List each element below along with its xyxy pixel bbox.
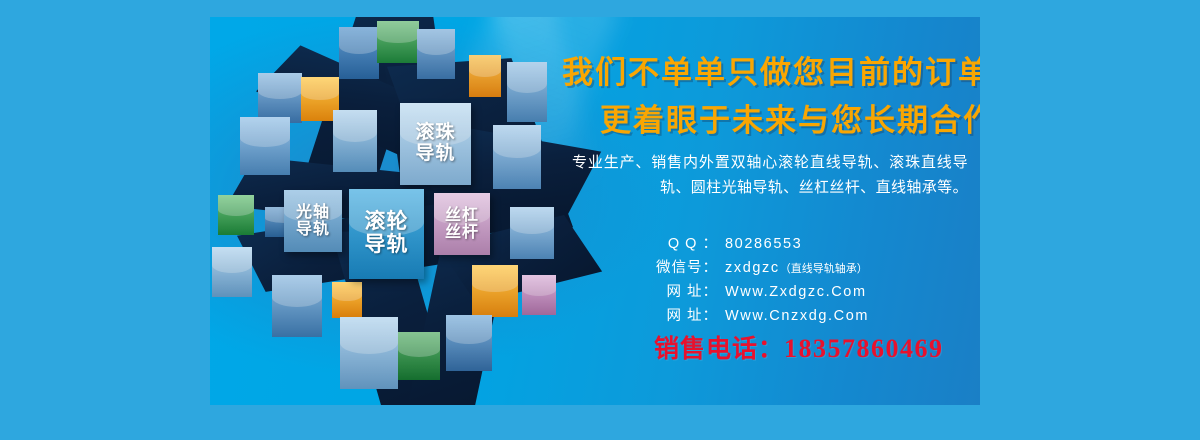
cube-blue bbox=[340, 317, 398, 389]
contact-label-website-2: 网 址： bbox=[550, 304, 718, 325]
contact-label-website-1: 网 址： bbox=[550, 280, 718, 301]
contact-row-qq: Q Q ： 80286553 bbox=[550, 232, 970, 254]
cube-blue bbox=[510, 207, 554, 259]
contact-note-wechat: （直线导轨轴承） bbox=[780, 260, 868, 276]
product-label-box-guangzhou-daogui: 光轴 导轨 bbox=[284, 190, 342, 252]
sales-phone-number: 18357860469 bbox=[784, 334, 944, 363]
headline-line-2: 更着眼于未来与您长期合作 bbox=[550, 95, 980, 140]
cube-cluster-graphic: 滚珠 导轨 光轴 导轨 滚轮 导轨 bbox=[210, 17, 555, 405]
product-label-line1: 滚珠 bbox=[415, 122, 455, 143]
headline-line-1: 我们不单单只做您目前的订单 bbox=[550, 47, 980, 92]
product-label-line2: 丝杆 bbox=[445, 224, 479, 241]
cube-blue bbox=[339, 27, 379, 79]
contact-value-website-1[interactable]: Www.Zxdgzc.Com bbox=[725, 284, 867, 300]
product-label-line2: 导轨 bbox=[365, 233, 409, 256]
cube-green bbox=[218, 195, 254, 235]
banner-copy-column: 我们不单单只做您目前的订单 更着眼于未来与您长期合作 专业生产、销售内外置双轴心… bbox=[550, 17, 980, 405]
product-label-box-gunzhu-daogui: 滚珠 导轨 bbox=[400, 103, 471, 185]
contact-block: Q Q ： 80286553 微信号： zxdgzc （直线导轨轴承） 网 址：… bbox=[550, 232, 970, 328]
cube-green bbox=[377, 21, 419, 63]
cube-blue bbox=[333, 110, 377, 172]
cube-blue bbox=[417, 29, 455, 79]
contact-label-wechat: 微信号： bbox=[550, 256, 718, 277]
cube-blue bbox=[240, 117, 290, 175]
cube-blue bbox=[507, 62, 547, 122]
cube-blue bbox=[212, 247, 252, 297]
product-label-line2: 导轨 bbox=[415, 143, 455, 164]
product-label-line1: 滚轮 bbox=[365, 210, 409, 233]
page-root: 滚珠 导轨 光轴 导轨 滚轮 导轨 bbox=[0, 0, 1200, 440]
sales-phone: 销售电话：18357860469 bbox=[654, 329, 944, 365]
cube-green bbox=[398, 332, 440, 380]
cube-orange bbox=[469, 55, 501, 97]
cube-blue bbox=[258, 73, 302, 123]
cube-blue bbox=[493, 125, 541, 189]
contact-label-qq: Q Q ： bbox=[550, 232, 718, 253]
contact-value-website-2[interactable]: Www.Cnzxdg.Com bbox=[725, 308, 869, 324]
promo-banner: 滚珠 导轨 光轴 导轨 滚轮 导轨 bbox=[210, 17, 980, 405]
banner-subcopy: 专业生产、销售内外置双轴心滚轮直线导轨、滚珠直线导轨、圆柱光轴导轨、丝杠丝杆、直… bbox=[572, 150, 968, 200]
cube-blue bbox=[272, 275, 322, 337]
product-label-line1: 丝杠 bbox=[445, 207, 479, 224]
contact-row-website-1: 网 址： Www.Zxdgzc.Com bbox=[550, 280, 970, 302]
product-label-box-gunlun-daogui: 滚轮 导轨 bbox=[349, 189, 424, 279]
contact-value-wechat: zxdgzc bbox=[725, 260, 780, 276]
contact-value-qq: 80286553 bbox=[725, 236, 802, 252]
contact-row-website-2: 网 址： Www.Cnzxdg.Com bbox=[550, 304, 970, 326]
contact-row-wechat: 微信号： zxdgzc （直线导轨轴承） bbox=[550, 256, 970, 278]
cube-orange bbox=[332, 282, 362, 318]
product-label-line2: 导轨 bbox=[296, 221, 330, 238]
cube-blue bbox=[446, 315, 492, 371]
cube-orange bbox=[472, 265, 518, 317]
product-label-box-sigang-sigan: 丝杠 丝杆 bbox=[434, 193, 490, 255]
product-label-line1: 光轴 bbox=[296, 204, 330, 221]
sales-phone-label: 销售电话： bbox=[654, 335, 784, 363]
